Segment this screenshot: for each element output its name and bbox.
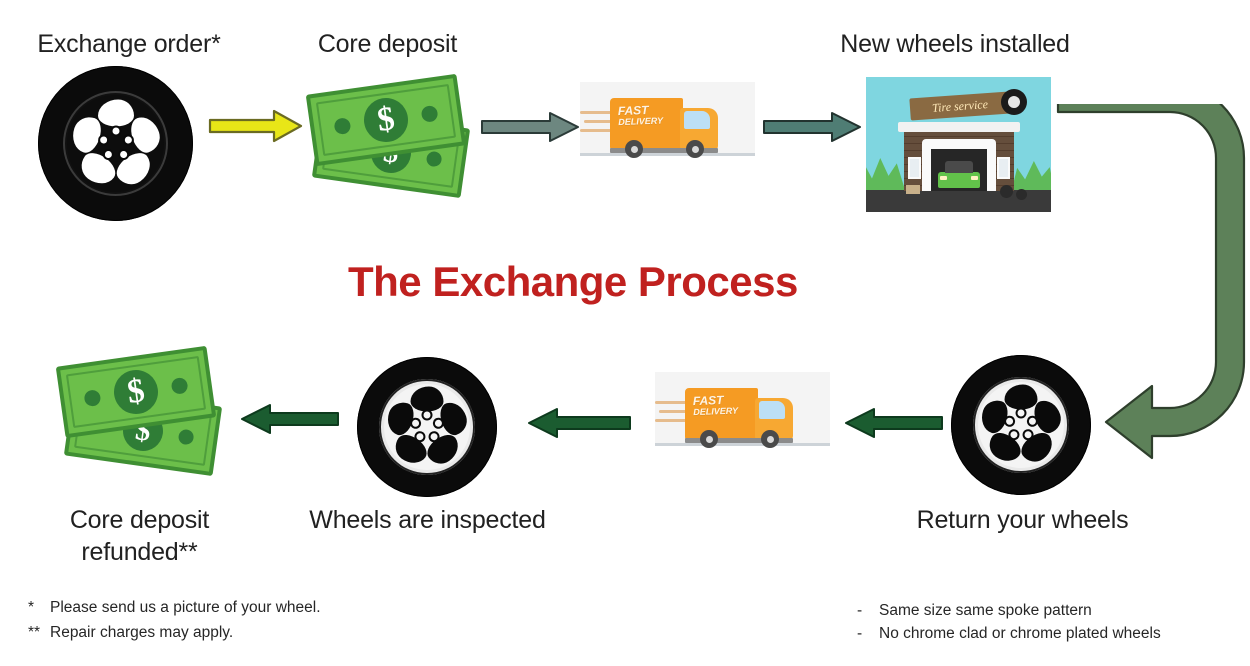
truck-ground <box>655 446 830 460</box>
footnote-marker: - <box>857 621 879 646</box>
banknote-dot <box>421 105 439 123</box>
banknote-dot <box>333 117 351 135</box>
car-headlight <box>940 176 947 180</box>
speed-line <box>580 111 614 114</box>
van-window <box>684 111 710 129</box>
footnote-right-1: -Same size same spoke pattern <box>857 598 1092 623</box>
dollar-sign: $ <box>111 367 161 417</box>
sign-tire-icon <box>1001 89 1027 115</box>
arrow-truck-to-garage <box>762 110 862 144</box>
speed-line <box>655 401 689 404</box>
label-return-your-wheels: Return your wheels <box>890 504 1155 536</box>
footnote-marker: - <box>857 598 879 623</box>
van-wheel <box>700 430 718 448</box>
label-new-wheels-installed: New wheels installed <box>800 28 1110 60</box>
footnote-text: No chrome clad or chrome plated wheels <box>879 625 1161 642</box>
footnote-left-1: *Please send us a picture of your wheel. <box>28 595 321 620</box>
banknote-dot <box>426 151 443 168</box>
van-wheel <box>761 430 779 448</box>
garage-window <box>997 157 1010 179</box>
footnote-text: Please send us a picture of your wheel. <box>50 599 321 616</box>
arrow-truck-to-inspected <box>527 407 632 439</box>
arrow-inspected-to-refund <box>240 403 340 435</box>
speed-line <box>655 419 689 422</box>
label-exchange-order: Exchange order* <box>14 28 244 60</box>
banknote-dot <box>83 389 101 407</box>
arrow-return-to-truck <box>844 407 944 439</box>
wheel-dark-icon <box>38 66 193 221</box>
truck-road <box>655 443 830 446</box>
wheel-light-icon <box>357 357 497 497</box>
page-title: The Exchange Process <box>348 258 798 306</box>
label-core-deposit-refunded: Core deposit refunded** <box>22 504 257 568</box>
money-icon: $ $ <box>58 352 230 482</box>
truck-ground <box>580 156 755 170</box>
lug-nut <box>1018 410 1025 417</box>
dollar-sign: $ <box>361 95 411 145</box>
truck-road <box>580 153 755 156</box>
van-wheel <box>625 140 643 158</box>
footnote-text: Repair charges may apply. <box>50 624 233 641</box>
spoke-gap <box>98 99 134 126</box>
bush <box>1011 159 1051 193</box>
crate <box>906 185 920 194</box>
exchange-process-diagram: Exchange order* Core deposit New wheels … <box>0 0 1250 666</box>
money-icon: $ $ <box>308 78 480 203</box>
van-label: FAST DELIVERY <box>693 393 756 417</box>
van-window <box>759 401 785 419</box>
loose-tire <box>1000 185 1013 198</box>
garage-window <box>908 157 921 179</box>
footnote-left-2: **Repair charges may apply. <box>28 620 233 645</box>
delivery-truck-icon: FAST DELIVERY <box>655 372 830 460</box>
garage-roof <box>898 122 1020 132</box>
service-car <box>938 172 980 188</box>
footnote-right-2: -No chrome clad or chrome plated wheels <box>857 621 1161 646</box>
banknote-dot <box>178 429 195 446</box>
bush <box>866 155 906 193</box>
car-headlight <box>971 176 978 180</box>
tire-service-garage-icon: Tire service <box>866 77 1051 212</box>
label-core-deposit: Core deposit <box>285 28 490 60</box>
spoke-gap <box>411 387 444 412</box>
label-wheels-are-inspected: Wheels are inspected <box>295 504 560 536</box>
lug-nut <box>424 412 431 419</box>
service-car-roof <box>945 161 973 173</box>
van-wheel <box>686 140 704 158</box>
wheel-light-icon <box>951 355 1091 495</box>
arrow-deposit-to-truck <box>480 110 580 144</box>
footnote-marker: * <box>28 595 50 620</box>
loose-tire <box>1016 189 1027 200</box>
banknote-dot <box>171 377 189 395</box>
lug-nut <box>112 127 119 134</box>
arrow-order-to-deposit <box>208 108 303 144</box>
footnote-marker: ** <box>28 620 50 645</box>
speed-line <box>580 129 614 132</box>
van-label: FAST DELIVERY <box>618 103 681 127</box>
tire-service-sign: Tire service <box>909 92 1010 121</box>
delivery-truck-icon: FAST DELIVERY <box>580 82 755 170</box>
footnote-text: Same size same spoke pattern <box>879 602 1092 619</box>
spoke-gap <box>1005 385 1038 410</box>
